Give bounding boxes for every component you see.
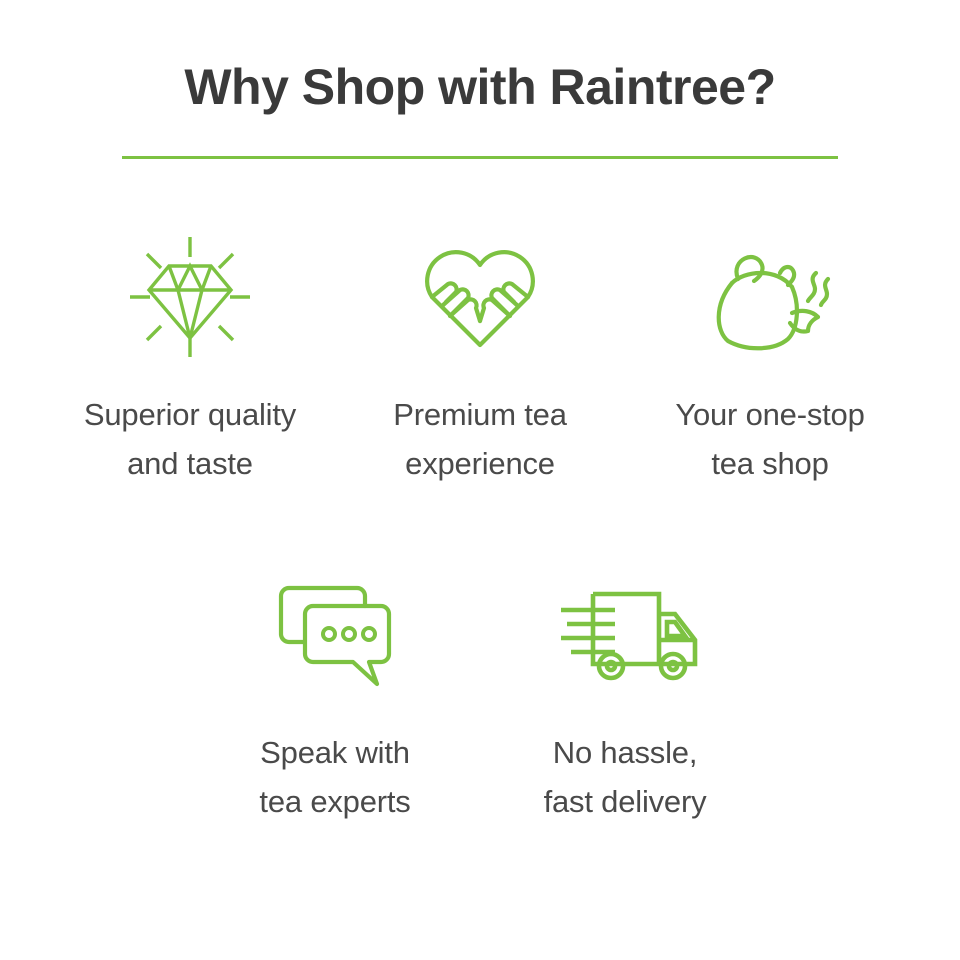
feature-superior-quality[interactable]: Superior quality and taste — [45, 232, 335, 488]
diamond-sparkle-icon — [126, 232, 254, 362]
page-header: Why Shop with Raintree? — [0, 56, 960, 159]
delivery-truck-icon — [549, 570, 701, 700]
title-divider — [122, 156, 838, 159]
why-shop-panel: Why Shop with Raintree? — [0, 0, 960, 960]
feature-speak-with-experts[interactable]: Speak with tea experts — [190, 570, 480, 826]
feature-label: No hassle, fast delivery — [544, 728, 707, 826]
feature-label: Your one-stop tea shop — [675, 390, 864, 488]
teapot-icon — [704, 232, 836, 362]
feature-label: Speak with tea experts — [259, 728, 410, 826]
hands-heart-icon — [416, 232, 544, 362]
speech-bubbles-icon — [273, 570, 397, 700]
feature-label: Superior quality and taste — [84, 390, 296, 488]
feature-row-two: Speak with tea experts — [0, 570, 960, 826]
feature-row-one: Superior quality and taste — [0, 232, 960, 488]
feature-fast-delivery[interactable]: No hassle, fast delivery — [480, 570, 770, 826]
feature-one-stop-shop[interactable]: Your one-stop tea shop — [625, 232, 915, 488]
feature-label: Premium tea experience — [393, 390, 567, 488]
feature-grid: Superior quality and taste — [0, 232, 960, 826]
page-title: Why Shop with Raintree? — [0, 56, 960, 118]
feature-premium-experience[interactable]: Premium tea experience — [335, 232, 625, 488]
